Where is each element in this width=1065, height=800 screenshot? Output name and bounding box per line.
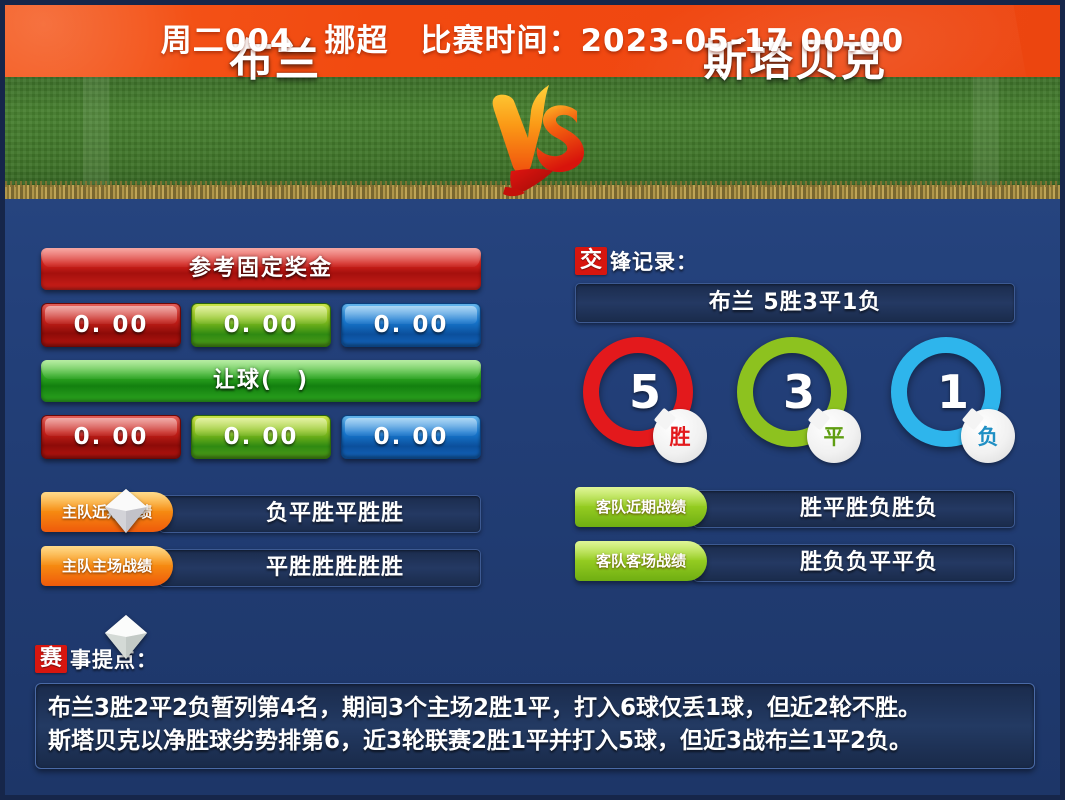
away-venue-form-value: 胜负负平平负 [694,545,1014,581]
away-venue-form-label: 客队客场战绩 [575,541,707,581]
h2h-label-rest: 锋记录： [610,246,698,276]
h2h-lose-circle: 1 负 [891,337,1009,477]
home-venue-form-value: 平胜胜胜胜胜 [160,550,480,586]
vs-flame-icon [481,83,596,201]
away-recent-form-tag: 客队近期战绩 [575,487,707,527]
away-recent-form-box: 胜平胜负胜负 [693,490,1015,528]
home-venue-form-row: 平胜胜胜胜胜 主队主场战绩 [41,546,481,586]
h2h-summary-text: 布兰 5胜3平1负 [576,284,1014,322]
match-notes: 赛 事提点： 布兰3胜2平2负暂列第4名，期间3个主场2胜1平，打入6球仅丢1球… [35,643,1035,769]
note-line: 布兰3胜2平2负暂列第4名，期间3个主场2胜1平，打入6球仅丢1球，但近2轮不胜… [48,692,1022,725]
draw-badge-label: 平 [824,421,845,451]
home-venue-form-box: 平胜胜胜胜胜 [159,549,481,587]
notes-section-label: 赛 事提点： [35,643,1035,675]
odd-value: 0. 00 [42,304,180,346]
handicap-label: 让球( ) [41,360,481,402]
handicap-bar: 让球( ) [41,360,481,402]
h2h-panel: 交 锋记录： 布兰 5胜3平1负 5 胜 3 平 [575,245,1015,595]
pitch-stripe [973,77,999,193]
odd-value: 0. 00 [192,416,330,458]
h2h-section-label: 交 锋记录： [575,245,1015,277]
fixed-bonus-bar: 参考固定奖金 [41,248,481,290]
h2h-circles: 5 胜 3 平 1 负 [575,337,1015,487]
h2h-label-chip: 交 [575,247,607,275]
win-badge: 胜 [653,409,707,463]
note-line: 斯塔贝克以净胜球劣势排第6，近3轮联赛2胜1平并打入5球，但近3战布兰1平2负。 [48,725,1022,758]
away-recent-form-row: 胜平胜负胜负 客队近期战绩 [575,487,1015,527]
away-venue-form-row: 胜负负平平负 客队客场战绩 [575,541,1015,581]
fixed-bonus-away-odd[interactable]: 0. 00 [341,303,481,347]
page-title: 周二004 挪超 比赛时间：2023-05-17 00:00 [5,5,1060,77]
pitch-stripe [83,77,109,193]
win-badge-label: 胜 [670,421,691,451]
fixed-bonus-home-odd[interactable]: 0. 00 [41,303,181,347]
home-recent-form-box: 负平胜平胜胜 [159,495,481,533]
home-venue-form-label: 主队主场战绩 [41,546,173,586]
away-venue-form-tag: 客队客场战绩 [575,541,707,581]
notes-label-chip: 赛 [35,645,67,673]
odd-value: 0. 00 [342,416,480,458]
fixed-bonus-label: 参考固定奖金 [41,248,481,290]
handicap-home-odd[interactable]: 0. 00 [41,415,181,459]
handicap-draw-odd[interactable]: 0. 00 [191,415,331,459]
odd-value: 0. 00 [42,416,180,458]
odd-value: 0. 00 [192,304,330,346]
lose-badge: 负 [961,409,1015,463]
notes-box: 布兰3胜2平2负暂列第4名，期间3个主场2胜1平，打入6球仅丢1球，但近2轮不胜… [35,683,1035,769]
draw-badge: 平 [807,409,861,463]
h2h-draw-circle: 3 平 [737,337,855,477]
home-recent-form-value: 负平胜平胜胜 [160,496,480,532]
fixed-bonus-odds-row: 0. 00 0. 00 0. 00 [41,303,481,347]
match-preview-card: 周二004 挪超 比赛时间：2023-05-17 00:00 布兰 斯塔贝克 [0,0,1065,800]
odds-panel: 参考固定奖金 0. 00 0. 00 0. 00 让球( ) [41,248,481,600]
handicap-odds-row: 0. 00 0. 00 0. 00 [41,415,481,459]
h2h-summary-box: 布兰 5胜3平1负 [575,283,1015,323]
h2h-win-circle: 5 胜 [583,337,701,477]
home-venue-form-tag: 主队主场战绩 [41,546,173,586]
diamond-gem-icon [103,487,149,535]
match-header: 周二004 挪超 比赛时间：2023-05-17 00:00 [5,5,1060,77]
fixed-bonus-draw-odd[interactable]: 0. 00 [191,303,331,347]
odd-value: 0. 00 [342,304,480,346]
lose-badge-label: 负 [978,421,999,451]
handicap-away-odd[interactable]: 0. 00 [341,415,481,459]
away-venue-form-box: 胜负负平平负 [693,544,1015,582]
diamond-gem-icon [103,613,149,661]
away-recent-form-label: 客队近期战绩 [575,487,707,527]
away-recent-form-value: 胜平胜负胜负 [694,491,1014,527]
